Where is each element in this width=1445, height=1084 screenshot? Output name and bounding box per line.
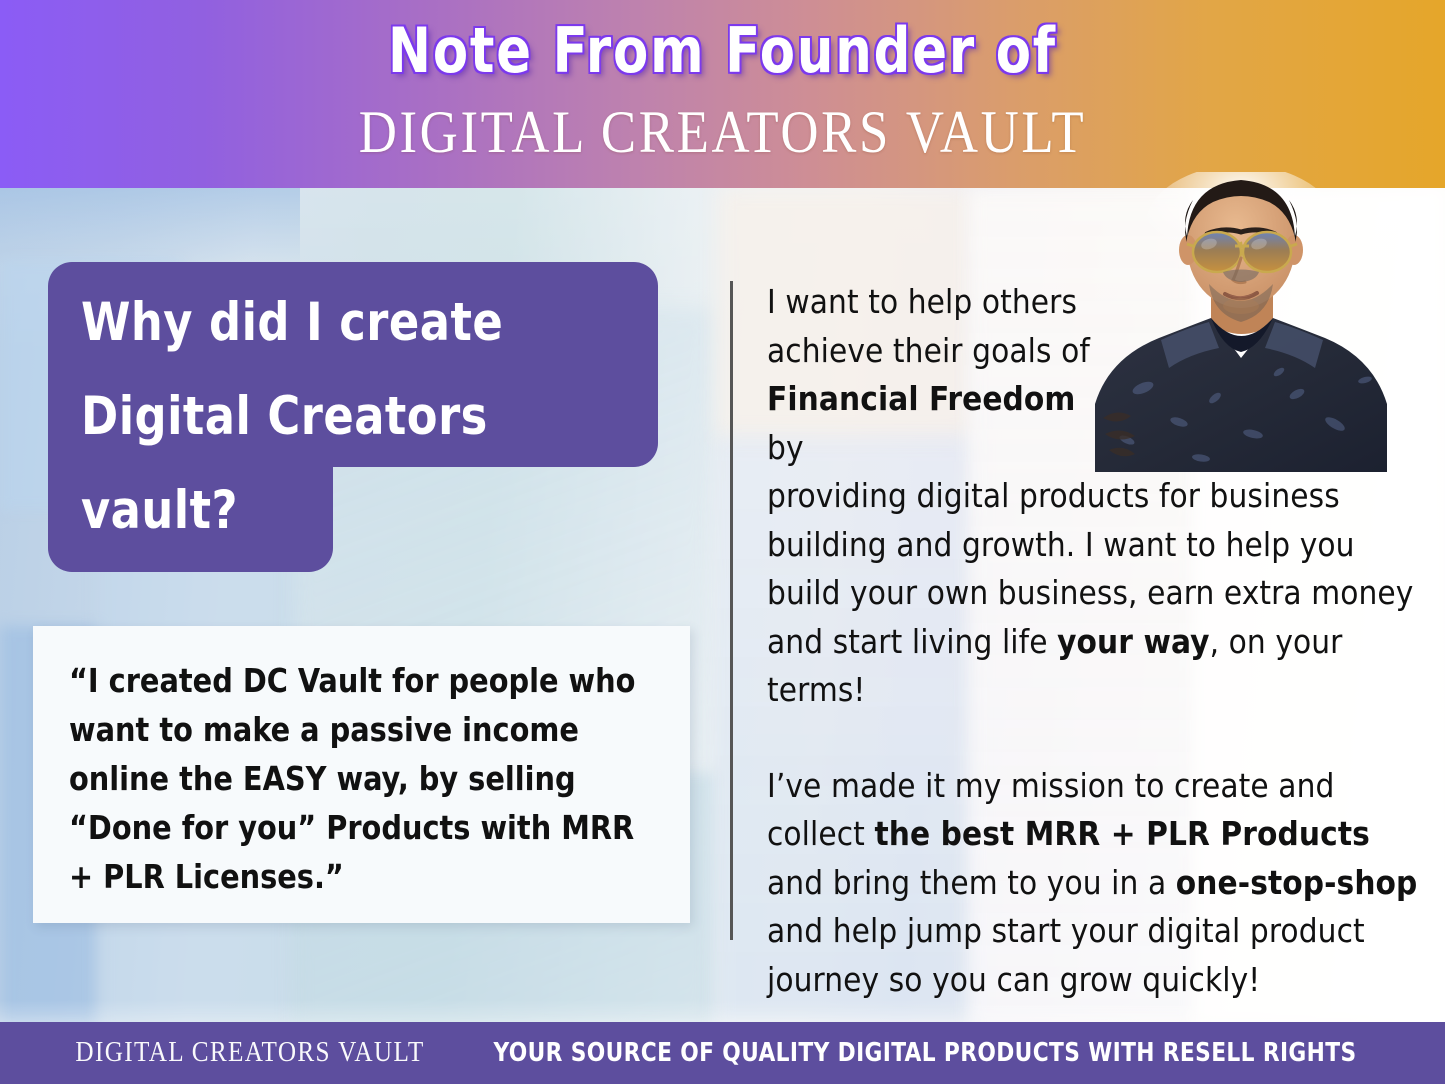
question-speech-bubble: Why did I create Digital Creators vault? [48, 262, 658, 572]
footer-brand: DIGITAL CREATORS VAULT [76, 1037, 425, 1069]
bubble-heading-line-1: Why did I create [81, 276, 626, 370]
paragraph-1-wrap-segment: I want to help others achieve their goal… [767, 278, 1097, 472]
p1-text-2-head: by [767, 428, 804, 467]
vertical-divider [730, 281, 733, 940]
founder-paragraph-2: I’ve made it my mission to create and co… [767, 762, 1427, 1005]
founder-quote-text: “I created DC Vault for people who want … [69, 656, 651, 901]
quote-line-2: want to make a passive income [69, 705, 651, 754]
header-subtitle: DIGITAL CREATORS VAULT [87, 98, 1359, 167]
p1-bold-financial-freedom: Financial Freedom [767, 379, 1075, 418]
p1-bold-your-way: your way [1057, 622, 1209, 661]
founder-photo [1083, 172, 1401, 472]
quote-line-1: “I created DC Vault for people who [69, 656, 651, 705]
p1-text-1: I want to help others achieve their goal… [767, 282, 1090, 370]
footer-tagline: YOUR SOURCE OF QUALITY DIGITAL PRODUCTS … [493, 1038, 1356, 1068]
p2-text-3: and help jump start your digital product… [767, 911, 1365, 999]
bubble-heading: Why did I create Digital Creators vault? [81, 276, 626, 558]
header-banner: Note From Founder of DIGITAL CREATORS VA… [0, 0, 1445, 188]
founder-portrait-illustration [1083, 172, 1401, 472]
poster-canvas: Note From Founder of DIGITAL CREATORS VA… [0, 0, 1445, 1084]
quote-line-3: online the EASY way, by selling [69, 754, 651, 803]
bg-block-1 [0, 188, 300, 268]
bubble-heading-line-2: Digital Creators [81, 370, 626, 464]
quote-line-4: “Done for you” Products with MRR [69, 803, 651, 852]
p2-text-2: and bring them to you in a [767, 863, 1176, 902]
header-title: Note From Founder of [58, 14, 1387, 87]
p2-bold-best-products: the best MRR + PLR Products [874, 814, 1369, 853]
founder-quote-card: “I created DC Vault for people who want … [33, 626, 690, 923]
bubble-heading-line-3: vault? [81, 464, 626, 558]
footer-bar: DIGITAL CREATORS VAULT YOUR SOURCE OF QU… [0, 1022, 1445, 1084]
paragraph-gap [767, 715, 1427, 762]
p2-bold-one-stop-shop: one-stop-shop [1176, 863, 1418, 902]
quote-line-5: + PLR Licenses.” [69, 852, 651, 901]
